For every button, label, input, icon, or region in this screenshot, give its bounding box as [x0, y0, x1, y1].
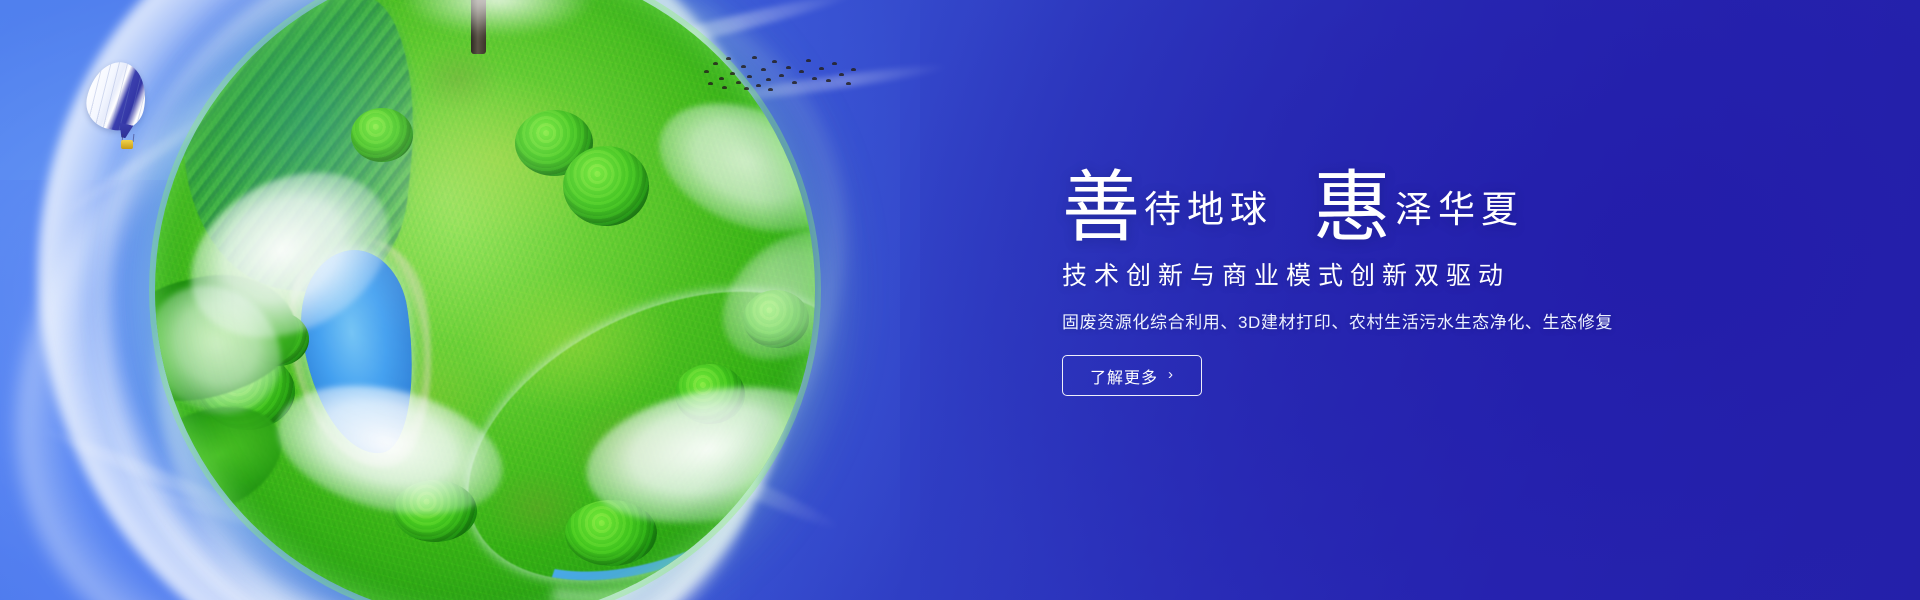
banner-description: 固废资源化综合利用、3D建材打印、农村生活污水生态净化、生态修复 — [1062, 308, 1682, 333]
learn-more-button[interactable]: 了解更多 › — [1062, 355, 1202, 396]
headline-text-zehuaxia: 泽华夏 — [1395, 191, 1524, 228]
chevron-right-icon: › — [1168, 366, 1174, 383]
balloon-ribs — [82, 57, 153, 136]
hot-air-balloon-icon — [88, 62, 150, 166]
banner-subtitle: 技术创新与商业模式创新双驱动 — [1062, 256, 1682, 292]
balloon-basket — [121, 140, 133, 149]
hero-banner: 善 待地球 惠 泽华夏 技术创新与商业模式创新双驱动 固废资源化综合利用、3D建… — [0, 0, 1920, 600]
banner-content: 善 待地球 惠 泽华夏 技术创新与商业模式创新双驱动 固废资源化综合利用、3D建… — [1062, 150, 1682, 396]
bird-flock-icon — [700, 48, 860, 94]
balloon-envelope — [82, 57, 153, 136]
headline-char-hui: 惠 — [1313, 171, 1391, 246]
learn-more-label: 了解更多 — [1090, 364, 1158, 388]
headline-char-shan: 善 — [1062, 171, 1140, 246]
headline-text-daidiqiu: 待地球 — [1144, 191, 1273, 228]
tree-mist — [403, 0, 593, 36]
page-title: 善 待地球 惠 泽华夏 — [1062, 150, 1682, 242]
